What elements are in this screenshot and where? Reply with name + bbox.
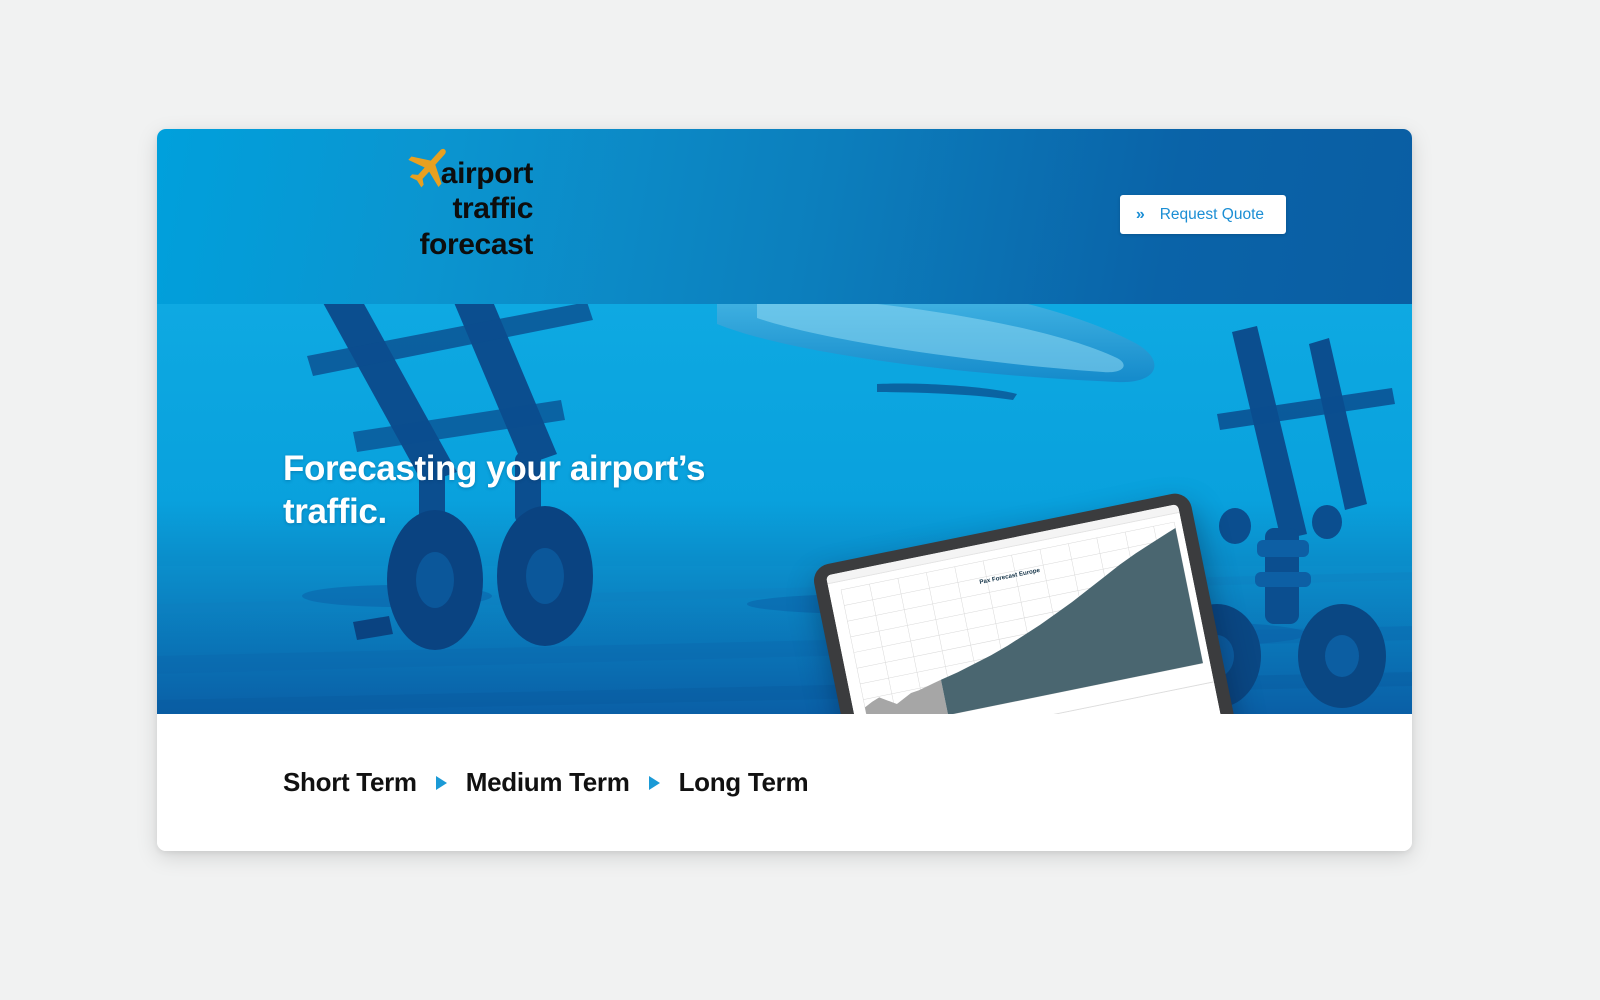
hero-headline-line-2: traffic. <box>283 492 387 531</box>
brand-line-3: forecast <box>283 227 533 262</box>
triangle-right-icon <box>630 775 679 791</box>
hero-headline: Forecasting your airport’s traffic. <box>283 447 803 534</box>
triangle-right-icon <box>417 775 466 791</box>
page-stage: airport traffic forecast » Request Quote <box>0 0 1600 1000</box>
airplane-icon <box>403 141 457 195</box>
hero-section: Forecasting your airport’s traffic. <box>157 304 1412 714</box>
double-chevron-right-icon: » <box>1136 207 1143 223</box>
term-navigation: Short Term Medium Term Long Term <box>157 714 1412 851</box>
landing-card: airport traffic forecast » Request Quote <box>157 129 1412 851</box>
term-nav-item-short[interactable]: Short Term <box>283 767 417 798</box>
request-quote-label: Request Quote <box>1160 206 1264 224</box>
request-quote-button[interactable]: » Request Quote <box>1120 195 1286 234</box>
term-nav-item-medium[interactable]: Medium Term <box>466 767 630 798</box>
hero-headline-line-1: Forecasting your airport’s <box>283 449 705 488</box>
site-header: airport traffic forecast » Request Quote <box>157 129 1412 304</box>
term-nav-item-long[interactable]: Long Term <box>679 767 809 798</box>
brand-line-2: traffic <box>283 191 533 226</box>
